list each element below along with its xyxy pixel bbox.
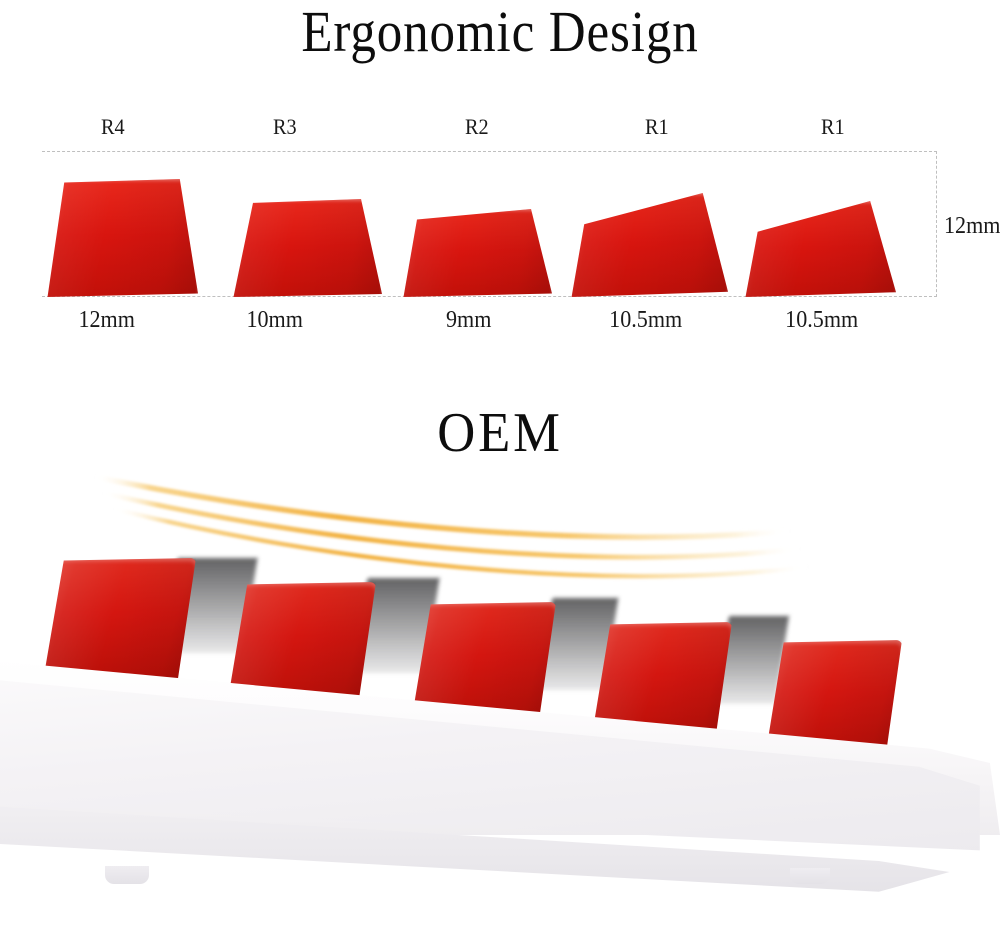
- keycap-body: [744, 201, 896, 297]
- keyboard-rubber-foot: [105, 866, 149, 884]
- keycap-profile-r4: [46, 179, 198, 297]
- keycap-body: [402, 209, 552, 297]
- keycap-profile-diagram: 12mm R4 R3 R2 R1 R1 12mm 10mm 9mm 10.5mm…: [0, 100, 1000, 350]
- infographic-page: Ergonomic Design 12mm R4 R3 R2 R1 R1: [0, 0, 1000, 927]
- page-title: Ergonomic Design: [60, 2, 940, 63]
- row-label-r2: R2: [465, 114, 489, 140]
- right-dimension-label: 12mm: [944, 213, 1000, 240]
- row-label-r3: R3: [273, 114, 297, 140]
- row-label-r1-b: R1: [821, 114, 845, 140]
- keycap-profile-r1-b: [744, 201, 896, 297]
- guide-line-top: [42, 151, 937, 152]
- guide-line-right: [936, 151, 937, 297]
- keycap-body: [570, 193, 728, 297]
- keyboard-rubber-foot: [790, 868, 830, 884]
- oem-title: OEM: [30, 405, 970, 461]
- row-label-r1-a: R1: [645, 114, 669, 140]
- height-label-r2: 9mm: [446, 307, 491, 334]
- keycap-profile-r2: [402, 209, 552, 297]
- keyboard-keycap: [44, 558, 196, 680]
- height-label-r3: 10mm: [246, 307, 302, 334]
- keycap-profile-r3: [232, 199, 382, 297]
- keycap-profile-r1-a: [570, 193, 728, 297]
- height-label-r4: 12mm: [78, 307, 134, 334]
- keycap-body: [232, 199, 382, 297]
- guide-line-bottom: [42, 296, 937, 297]
- keycap-body: [46, 179, 198, 297]
- row-label-r4: R4: [101, 114, 125, 140]
- keyboard-photo: [0, 540, 1000, 927]
- height-label-r1-a: 10.5mm: [609, 307, 682, 334]
- height-label-r1-b: 10.5mm: [785, 307, 858, 334]
